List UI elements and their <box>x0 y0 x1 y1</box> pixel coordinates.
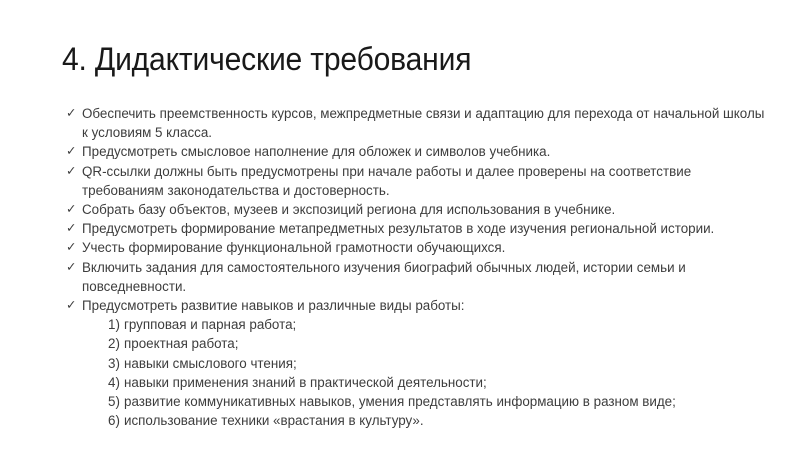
check-icon: ✓ <box>66 238 80 257</box>
list-item: ✓ Предусмотреть развитие навыков и разли… <box>0 296 800 315</box>
list-item: 1) групповая и парная работа; <box>0 315 800 334</box>
list-item: 6) использование техники «врастания в ку… <box>0 411 800 430</box>
list-item-text: Учесть формирование функциональной грамо… <box>82 238 766 257</box>
check-icon: ✓ <box>66 219 80 238</box>
check-icon: ✓ <box>66 162 80 181</box>
list-item-text: Предусмотреть развитие навыков и различн… <box>82 296 766 315</box>
list-item-marker: 3) <box>108 354 126 373</box>
list-item-text: навыки применения знаний в практической … <box>124 373 760 392</box>
check-icon: ✓ <box>66 258 80 277</box>
list-item: 2) проектная работа; <box>0 334 800 353</box>
list-item-text: использование техники «врастания в культ… <box>124 411 760 430</box>
list-item-text: Предусмотреть формирование метапредметны… <box>82 219 766 238</box>
list-item: ✓ Включить задания для самостоятельного … <box>0 258 800 296</box>
check-icon: ✓ <box>66 104 80 123</box>
check-icon: ✓ <box>66 200 80 219</box>
list-item-marker: 4) <box>108 373 126 392</box>
list-item: ✓ Собрать базу объектов, музеев и экспоз… <box>0 200 800 219</box>
list-item-text: групповая и парная работа; <box>124 315 760 334</box>
list-item-marker: 1) <box>108 315 126 334</box>
list-item-text: проектная работа; <box>124 334 760 353</box>
presentation-slide: 4. Дидактические требования ✓ Обеспечить… <box>0 0 800 450</box>
list-item: ✓ Учесть формирование функциональной гра… <box>0 238 800 257</box>
list-item-text: Собрать базу объектов, музеев и экспозиц… <box>82 200 766 219</box>
list-item: ✓ Обеспечить преемственность курсов, меж… <box>0 104 800 142</box>
list-item-text: Обеспечить преемственность курсов, межпр… <box>82 104 766 142</box>
list-item: 5) развитие коммуникативных навыков, уме… <box>0 392 800 411</box>
list-item: 3) навыки смыслового чтения; <box>0 354 800 373</box>
check-icon: ✓ <box>66 142 80 161</box>
slide-title: 4. Дидактические требования <box>62 40 720 78</box>
list-item: ✓ QR-ссылки должны быть предусмотрены пр… <box>0 162 800 200</box>
list-item-text: QR-ссылки должны быть предусмотрены при … <box>82 162 766 200</box>
list-item: ✓ Предусмотреть смысловое наполнение для… <box>0 142 800 161</box>
numbered-sublist: 1) групповая и парная работа; 2) проектн… <box>0 315 800 430</box>
list-item-text: развитие коммуникативных навыков, умения… <box>124 392 760 411</box>
list-item-text: Предусмотреть смысловое наполнение для о… <box>82 142 766 161</box>
list-item-marker: 6) <box>108 411 126 430</box>
check-icon: ✓ <box>66 296 80 315</box>
list-item: 4) навыки применения знаний в практическ… <box>0 373 800 392</box>
checklist: ✓ Обеспечить преемственность курсов, меж… <box>0 104 800 315</box>
list-item-marker: 5) <box>108 392 126 411</box>
list-item-marker: 2) <box>108 334 126 353</box>
list-item-text: навыки смыслового чтения; <box>124 354 760 373</box>
list-item-text: Включить задания для самостоятельного из… <box>82 258 766 296</box>
list-item: ✓ Предусмотреть формирование метапредмет… <box>0 219 800 238</box>
slide-body: ✓ Обеспечить преемственность курсов, меж… <box>0 104 800 430</box>
